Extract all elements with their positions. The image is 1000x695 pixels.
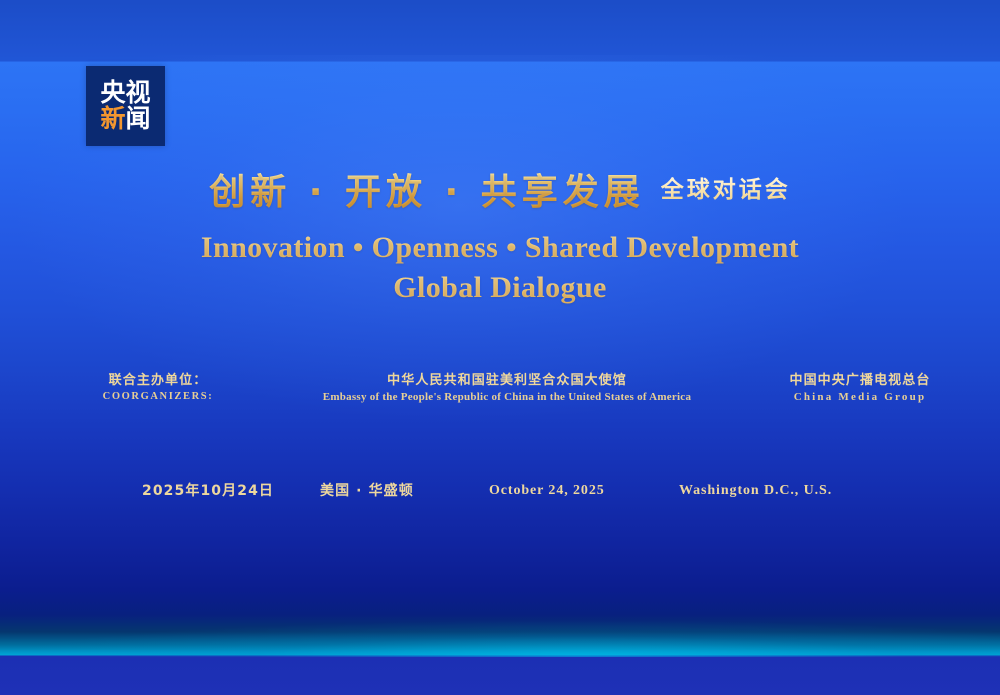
logo-char-wen: 闻: [126, 106, 151, 132]
coorganizers-label-en: COORGANIZERS:: [78, 389, 238, 405]
event-location-cn: 美国 · 华盛顿: [320, 480, 414, 502]
coorganizer-cmg-en: China Media Group: [735, 389, 985, 405]
coorganizer-embassy-en: Embassy of the People's Republic of Chin…: [252, 389, 762, 405]
logo-char-xin: 新: [100, 106, 125, 132]
coorganizer-embassy: 中华人民共和国驻美利坚合众国大使馆 Embassy of the People'…: [252, 372, 762, 405]
title-english-line-2: Global Dialogue: [0, 268, 1000, 308]
event-location-en: Washington D.C., U.S.: [679, 480, 832, 502]
coorganizer-cmg-cn: 中国中央广播电视总台: [735, 372, 985, 389]
event-poster: 央视 新 闻 创新 · 开放 · 共享发展全球对话会 Innovation • …: [0, 0, 1000, 695]
cctv-news-logo[interactable]: 央视 新 闻: [86, 66, 165, 146]
coorganizers-label: 联合主办单位： COORGANIZERS:: [78, 372, 238, 405]
title-chinese-subtitle: 全球对话会: [661, 177, 791, 203]
page-title-english: Innovation • Openness • Shared Developme…: [0, 228, 1000, 308]
background-top-band: [0, 0, 1000, 62]
event-date-en: October 24, 2025: [489, 480, 605, 502]
coorganizers-section: 联合主办单位： COORGANIZERS: 中华人民共和国驻美利坚合众国大使馆 …: [0, 372, 1000, 418]
event-meta-row: 2025年10月24日 美国 · 华盛顿 October 24, 2025 Wa…: [0, 480, 1000, 504]
title-chinese-main: 创新 · 开放 · 共享发展: [209, 172, 645, 213]
background-glow-bottom: [0, 567, 1000, 657]
logo-char-yangshi: 央视: [100, 80, 150, 106]
coorganizer-china-media-group: 中国中央广播电视总台 China Media Group: [735, 372, 985, 405]
coorganizer-embassy-cn: 中华人民共和国驻美利坚合众国大使馆: [252, 372, 762, 389]
logo-line-bottom: 新 闻: [100, 106, 150, 132]
coorganizers-label-cn: 联合主办单位：: [78, 372, 238, 389]
page-title-chinese: 创新 · 开放 · 共享发展全球对话会: [0, 163, 1000, 215]
event-date-cn: 2025年10月24日: [142, 480, 274, 502]
logo-line-top: 央视: [100, 80, 150, 106]
title-english-line-1: Innovation • Openness • Shared Developme…: [0, 228, 1000, 268]
